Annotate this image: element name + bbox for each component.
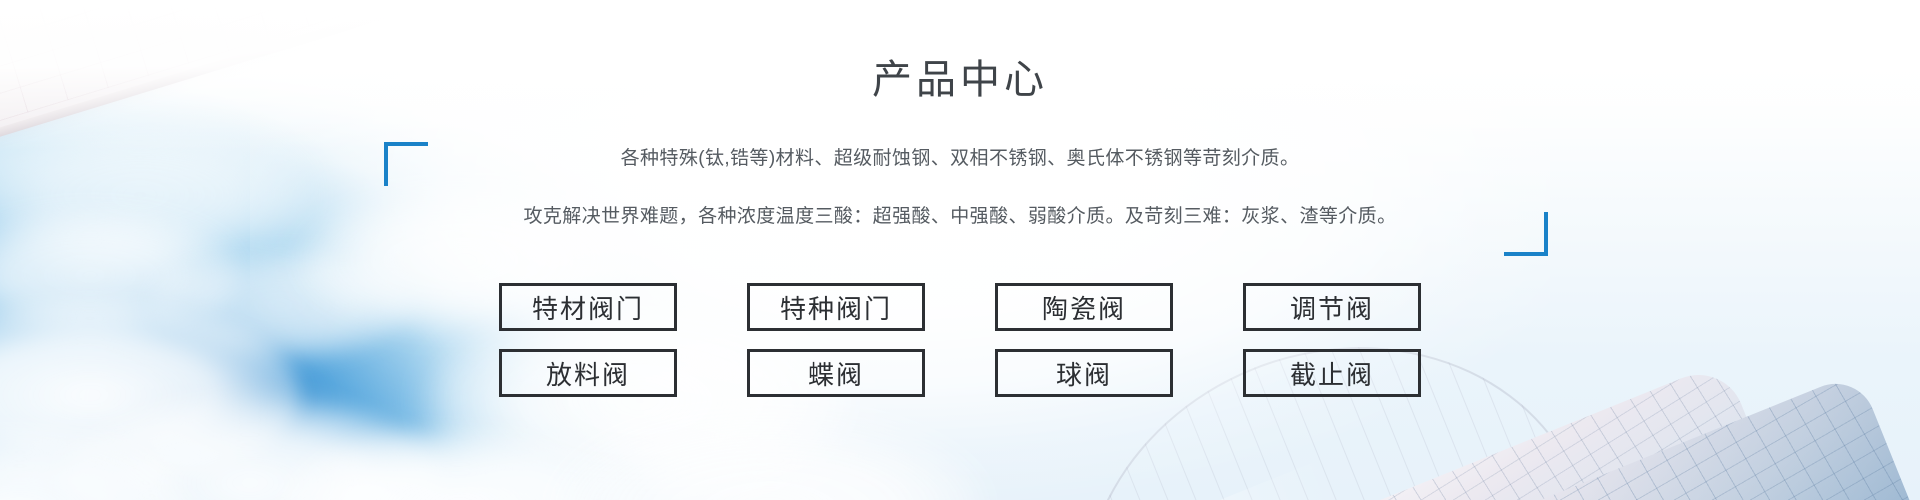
category-button-tezhong-famen[interactable]: 特种阀门 [747,283,925,331]
category-button-tiaojie-fa[interactable]: 调节阀 [1243,283,1421,331]
category-button-qiu-fa[interactable]: 球阀 [995,349,1173,397]
product-center-banner: 产品中心 各种特殊(钛,锆等)材料、超级耐蚀钢、双相不锈钢、奥氏体不锈钢等苛刻介… [0,0,1920,500]
product-category-row-1: 特材阀门 特种阀门 陶瓷阀 调节阀 [499,283,1421,331]
category-button-die-fa[interactable]: 蝶阀 [747,349,925,397]
category-button-fangliao-fa[interactable]: 放料阀 [499,349,677,397]
category-button-jiezhi-fa[interactable]: 截止阀 [1243,349,1421,397]
category-button-techai-famen[interactable]: 特材阀门 [499,283,677,331]
product-category-grid: 特材阀门 特种阀门 陶瓷阀 调节阀 放料阀 蝶阀 球阀 截止阀 [0,283,1920,397]
description-line-2: 攻克解决世界难题，各种浓度温度三酸：超强酸、中强酸、弱酸介质。及苛刻三难：灰浆、… [0,198,1920,236]
decorative-bracket-bottom-right [1504,212,1548,256]
product-category-row-2: 放料阀 蝶阀 球阀 截止阀 [499,349,1421,397]
category-button-taoci-fa[interactable]: 陶瓷阀 [995,283,1173,331]
page-title: 产品中心 [0,50,1920,110]
description-block: 各种特殊(钛,锆等)材料、超级耐蚀钢、双相不锈钢、奥氏体不锈钢等苛刻介质。 攻克… [0,140,1920,236]
decorative-bracket-top-left [384,142,428,186]
description-line-1: 各种特殊(钛,锆等)材料、超级耐蚀钢、双相不锈钢、奥氏体不锈钢等苛刻介质。 [0,140,1920,178]
